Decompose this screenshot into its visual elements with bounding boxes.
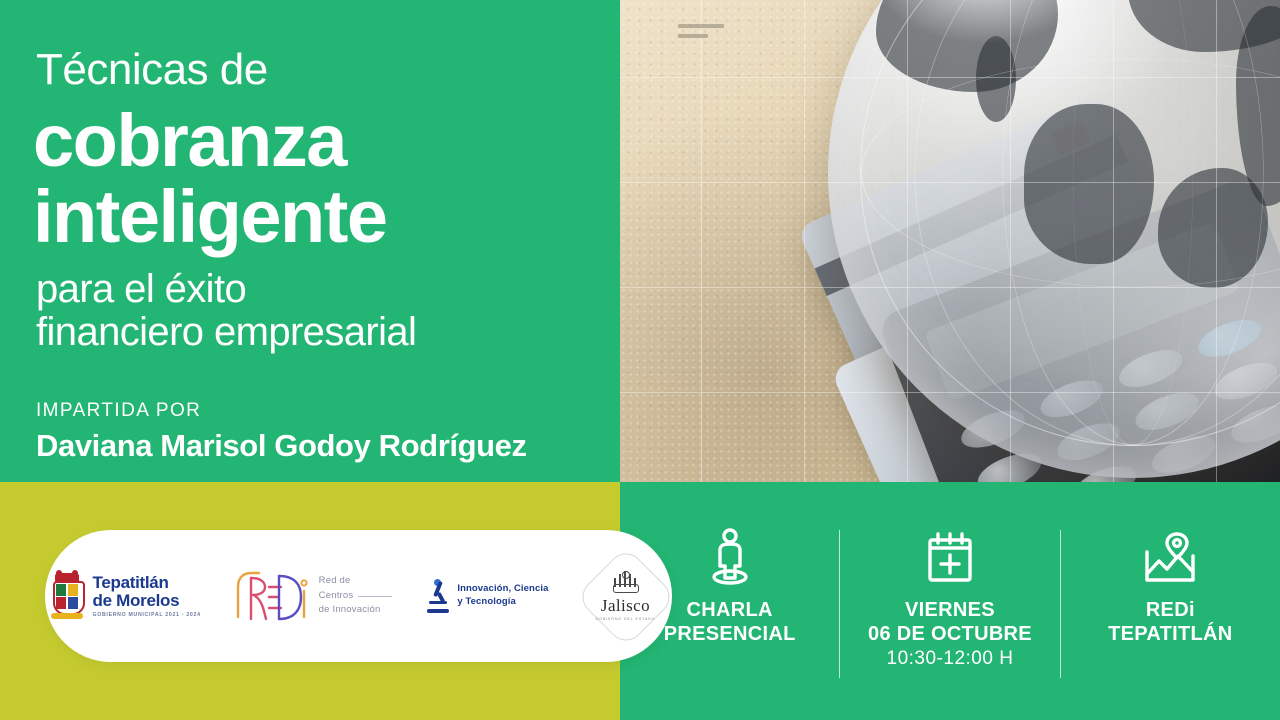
- detail-location-line-2: TEPATITLÁN: [1108, 622, 1232, 646]
- event-poster: Técnicas de cobranza inteligente para el…: [0, 0, 1280, 720]
- jalisco-wordmark: Jalisco: [596, 597, 656, 614]
- microscope-icon: [426, 579, 450, 613]
- innovacion-line-1: Innovación, Ciencia: [457, 583, 548, 596]
- calendar-plus-icon: [924, 528, 976, 586]
- redi-line-1: Red de: [319, 574, 393, 589]
- jalisco-crown-icon: [610, 571, 640, 595]
- tepatitlan-line-1: Tepatitlán: [93, 574, 201, 592]
- detail-modality-line-2: PRESENCIAL: [664, 622, 796, 646]
- sponsor-logo-card: Tepatitlán de Morelos GOBIERNO MUNICIPAL…: [45, 530, 672, 662]
- redi-monogram-icon: [235, 567, 309, 625]
- detail-location: REDi TEPATITLÁN: [1061, 504, 1280, 698]
- innovacion-line-2: y Tecnología: [457, 596, 548, 609]
- jalisco-subtitle: GOBIERNO DEL ESTADO: [596, 617, 656, 621]
- detail-location-line-1: REDi: [1108, 598, 1232, 622]
- tepatitlan-line-2: de Morelos: [93, 592, 201, 610]
- detail-modality-line-1: CHARLA: [664, 598, 796, 622]
- tepatitlan-wordmark: Tepatitlán de Morelos GOBIERNO MUNICIPAL…: [93, 574, 201, 619]
- logo-redi: Red de Centros de Innovación: [235, 567, 393, 625]
- detail-date-line-2: 06 DE OCTUBRE: [868, 622, 1032, 646]
- presenter-label: IMPARTIDA POR: [36, 400, 201, 422]
- logo-innovacion: Innovación, Ciencia y Tecnología: [426, 579, 548, 613]
- redi-rule: [358, 596, 392, 597]
- map-pin-icon: [1141, 528, 1199, 586]
- presenter-person-icon: [707, 528, 753, 586]
- page-title-line-1: cobranza: [33, 106, 346, 176]
- event-details: CHARLA PRESENCIAL VIERNES 06 DE OCTUBRE …: [620, 482, 1280, 720]
- detail-date-line-1: VIERNES: [868, 598, 1032, 622]
- redi-wordmark: Red de Centros de Innovación: [319, 574, 393, 618]
- hero-subtitle-line-1: para el éxito: [36, 268, 416, 311]
- detail-date: VIERNES 06 DE OCTUBRE 10:30-12:00 H: [840, 504, 1059, 698]
- detail-modality-text: CHARLA PRESENCIAL: [664, 598, 796, 647]
- detail-date-time: 10:30-12:00 H: [868, 647, 1032, 670]
- redi-line-3: de Innovación: [319, 603, 393, 618]
- redi-line-2: Centros: [319, 589, 354, 604]
- grid-overlay: [620, 0, 1280, 482]
- innovacion-wordmark: Innovación, Ciencia y Tecnología: [457, 583, 548, 609]
- hero-photo: [620, 0, 1280, 482]
- detail-location-text: REDi TEPATITLÁN: [1108, 598, 1232, 647]
- detail-date-text: VIERNES 06 DE OCTUBRE 10:30-12:00 H: [868, 598, 1032, 670]
- grid-marks: [678, 24, 738, 44]
- presenter-name: Daviana Marisol Godoy Rodríguez: [36, 428, 527, 464]
- tepatitlan-subtitle: GOBIERNO MUNICIPAL 2021 - 2024: [93, 612, 201, 618]
- hero-subtitle: para el éxito financiero empresarial: [36, 268, 416, 354]
- hero-kicker: Técnicas de: [36, 48, 268, 92]
- page-title-line-2: inteligente: [33, 182, 387, 252]
- hero-subtitle-line-2: financiero empresarial: [36, 311, 416, 354]
- logo-tepatitlan: Tepatitlán de Morelos GOBIERNO MUNICIPAL…: [49, 573, 201, 619]
- tepatitlan-crest-icon: [49, 573, 85, 619]
